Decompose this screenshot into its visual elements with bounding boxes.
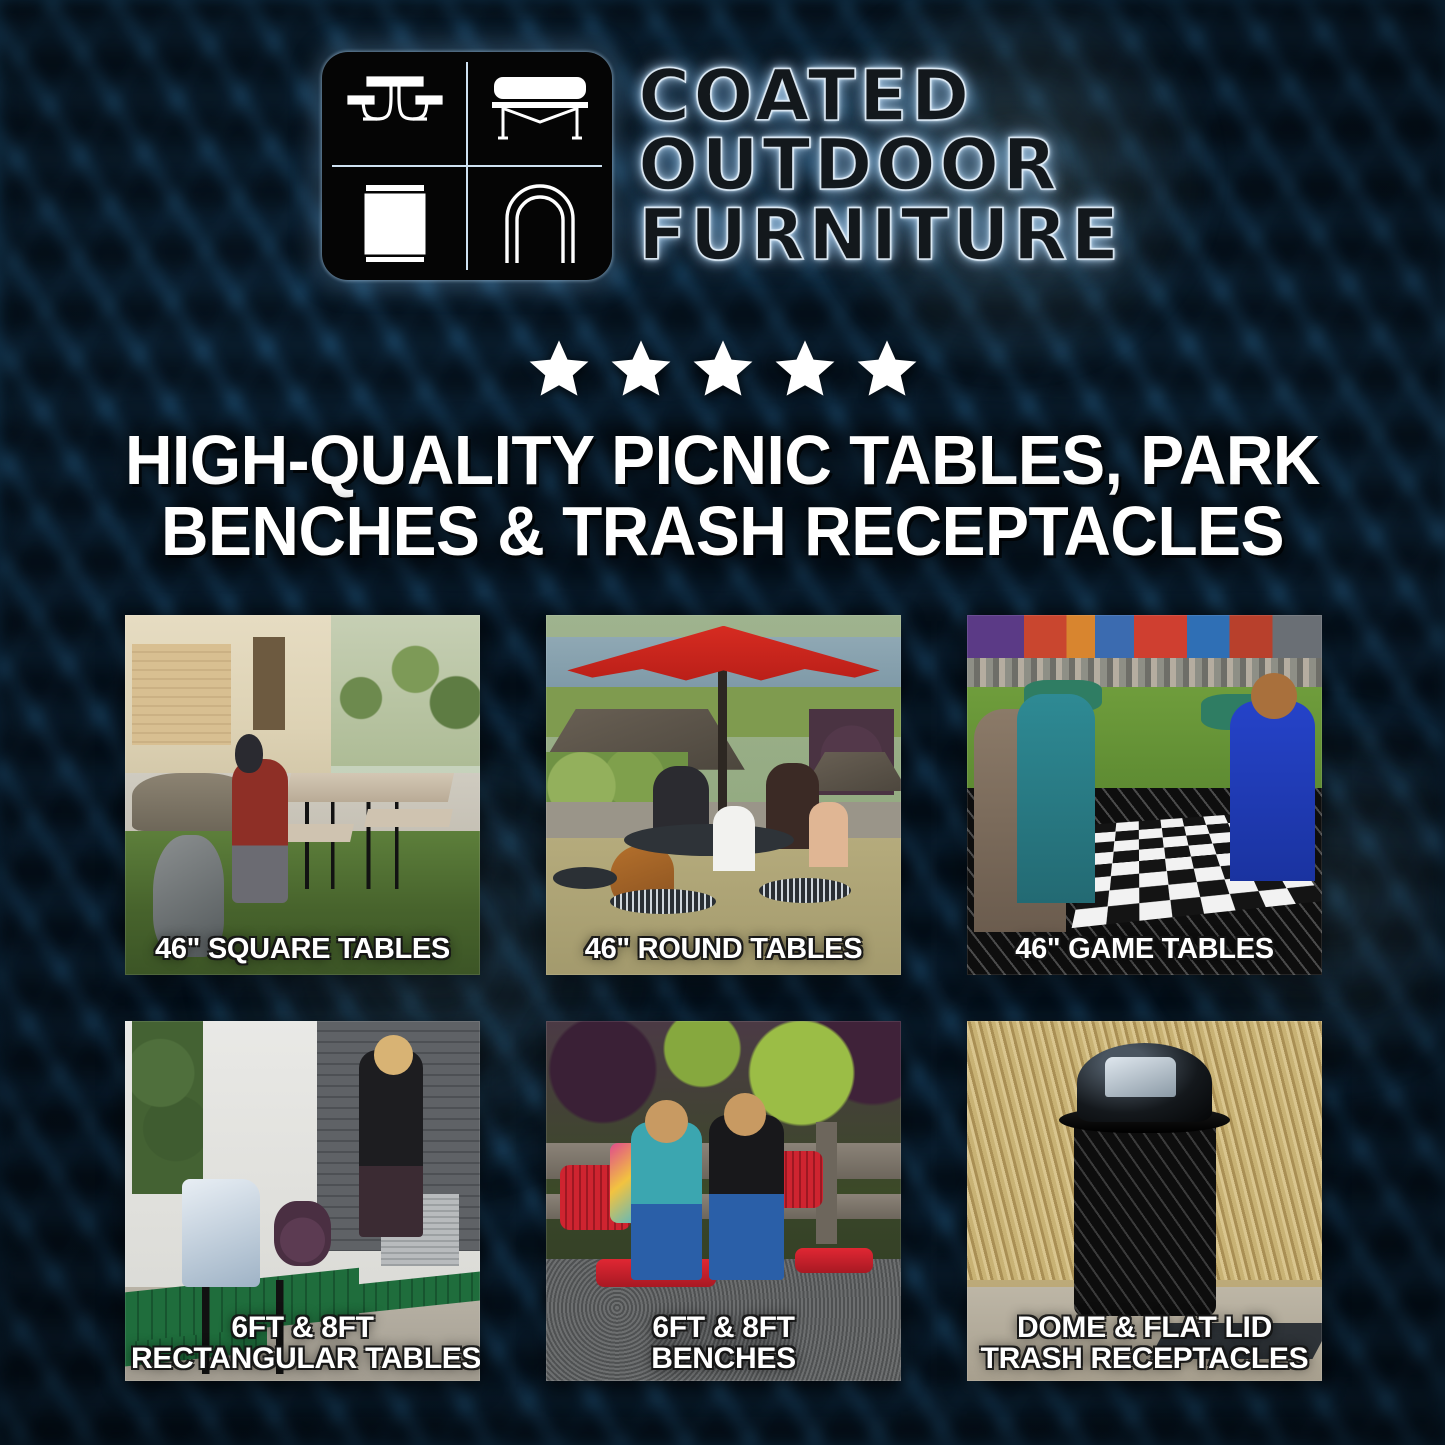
product-grid: 46" SQUARE TABLES 46" ROUND TABLES xyxy=(125,615,1325,1381)
product-tile-round-tables[interactable]: 46" ROUND TABLES xyxy=(546,615,901,975)
product-tile-rectangular-tables[interactable]: 6FT & 8FT RECTANGULAR TABLES xyxy=(125,1021,480,1381)
trash-receptacle-icon xyxy=(322,166,467,280)
product-tile-benches[interactable]: 6FT & 8FT BENCHES xyxy=(546,1021,901,1381)
four-quadrant-furniture-icon xyxy=(322,52,612,280)
product-photo-round-tables xyxy=(546,615,901,975)
product-photo-trash-receptacles xyxy=(967,1021,1322,1381)
product-photo-benches xyxy=(546,1021,901,1381)
star-icon xyxy=(771,336,839,402)
headline: HIGH-QUALITY PICNIC TABLES, PARK BENCHES… xyxy=(100,425,1346,568)
headline-line-2: BENCHES & TRASH RECEPTACLES xyxy=(100,496,1346,567)
brand-header: COATED OUTDOOR FURNITURE xyxy=(0,52,1445,280)
brand-name-line2: OUTDOOR xyxy=(638,132,1060,199)
logo-divider-horizontal xyxy=(332,165,602,167)
star-icon xyxy=(689,336,757,402)
product-photo-game-tables xyxy=(967,615,1322,975)
star-icon xyxy=(525,336,593,402)
brand-name-line3: FURNITURE xyxy=(638,202,1122,269)
star-icon xyxy=(853,336,921,402)
product-tile-game-tables[interactable]: 46" GAME TABLES xyxy=(967,615,1322,975)
brand-wordmark: COATED OUTDOOR FURNITURE xyxy=(638,63,1122,269)
product-tile-trash-receptacles[interactable]: DOME & FLAT LID TRASH RECEPTACLES xyxy=(967,1021,1322,1381)
product-photo-square-tables xyxy=(125,615,480,975)
dome-lid-arch-icon xyxy=(467,166,612,280)
headline-line-1: HIGH-QUALITY PICNIC TABLES, PARK xyxy=(100,425,1346,496)
product-tile-square-tables[interactable]: 46" SQUARE TABLES xyxy=(125,615,480,975)
star-rating xyxy=(0,336,1445,402)
brand-name-line1: COATED xyxy=(638,63,973,130)
promo-banner: COATED OUTDOOR FURNITURE HIGH-QUALITY PI… xyxy=(0,0,1445,1445)
picnic-table-front-icon xyxy=(322,52,467,166)
product-photo-rectangular-tables xyxy=(125,1021,480,1381)
bench-table-side-icon xyxy=(467,52,612,166)
star-icon xyxy=(607,336,675,402)
